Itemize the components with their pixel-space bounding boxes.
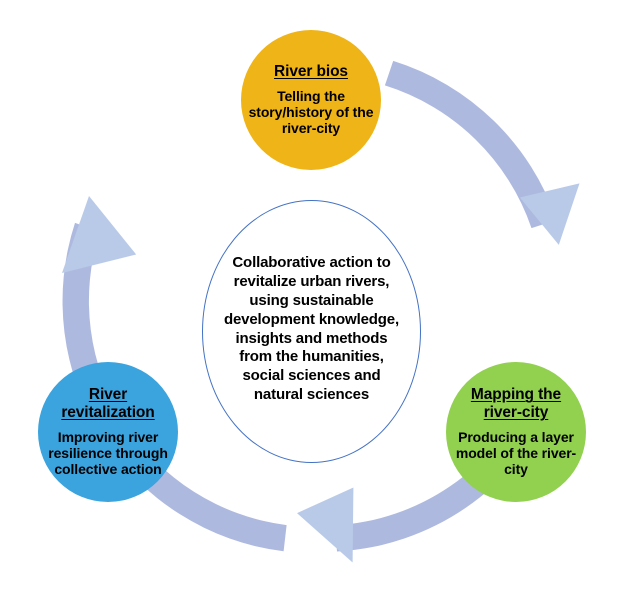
center-hub: Collaborative action to revitalize urban… [202, 200, 421, 463]
node-river-revitalization-title: River revitalization [44, 386, 172, 421]
node-mapping-the-river-city[interactable]: Mapping the river-city Producing a layer… [446, 362, 586, 502]
node-river-revitalization-description: Improving river resilience through colle… [44, 429, 172, 478]
node-mapping-the-river-city-title: Mapping the river-city [452, 386, 580, 421]
node-mapping-the-river-city-description: Producing a layer model of the river-cit… [452, 429, 580, 478]
arrowhead-bottom-icon [297, 488, 353, 563]
node-river-bios[interactable]: River bios Telling the story/history of … [241, 30, 381, 170]
ring-segment-top-right [385, 61, 580, 245]
node-river-bios-title: River bios [274, 63, 348, 81]
node-river-revitalization[interactable]: River revitalization Improving river res… [38, 362, 178, 502]
center-hub-text: Collaborative action to revitalize urban… [221, 254, 403, 405]
cycle-diagram: Collaborative action to revitalize urban… [0, 0, 627, 594]
node-river-bios-description: Telling the story/history of the river-c… [247, 88, 375, 137]
